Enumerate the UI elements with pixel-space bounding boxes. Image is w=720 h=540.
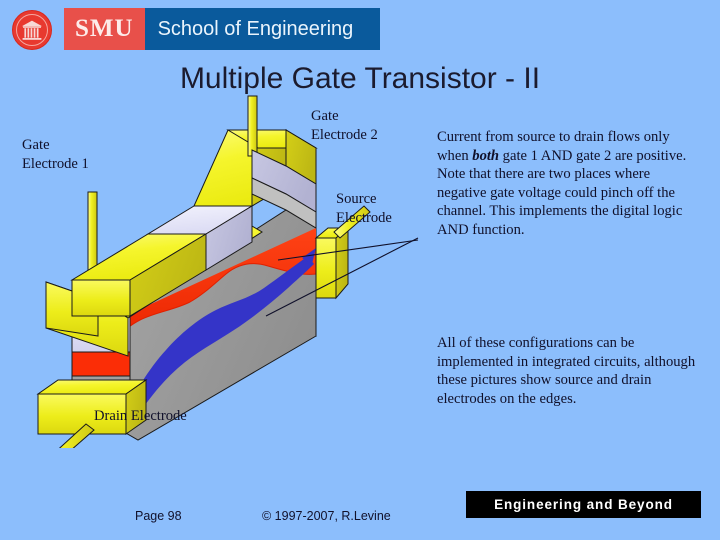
footer-tagline-badge: Engineering and Beyond	[466, 491, 701, 518]
body-paragraph-1: Current from source to drain flows only …	[437, 128, 699, 240]
smu-school-name: School of Engineering	[145, 8, 380, 50]
label-source-electrode: Source Electrode	[336, 190, 392, 227]
label-gate-electrode-1: Gate Electrode 1	[22, 136, 89, 173]
slide-canvas: SMU School of Engineering Multiple Gate …	[0, 0, 720, 540]
label-drain-electrode: Drain Electrode	[94, 407, 187, 426]
smu-wordmark: SMU School of Engineering	[64, 8, 380, 50]
smu-logo-band: SMU School of Engineering	[8, 6, 380, 53]
footer-page-number: Page 98	[135, 509, 182, 523]
label-gate-electrode-2: Gate Electrode 2	[311, 107, 378, 144]
classical-building-icon	[21, 20, 43, 42]
footer-copyright: © 1997-2007, R.Levine	[262, 509, 391, 523]
para1-emphasis: both	[472, 148, 499, 164]
smu-seal-icon	[12, 10, 52, 50]
gate2-pin	[248, 96, 257, 156]
smu-acronym: SMU	[64, 8, 145, 50]
body-paragraph-2: All of these configurations can be imple…	[437, 334, 699, 408]
